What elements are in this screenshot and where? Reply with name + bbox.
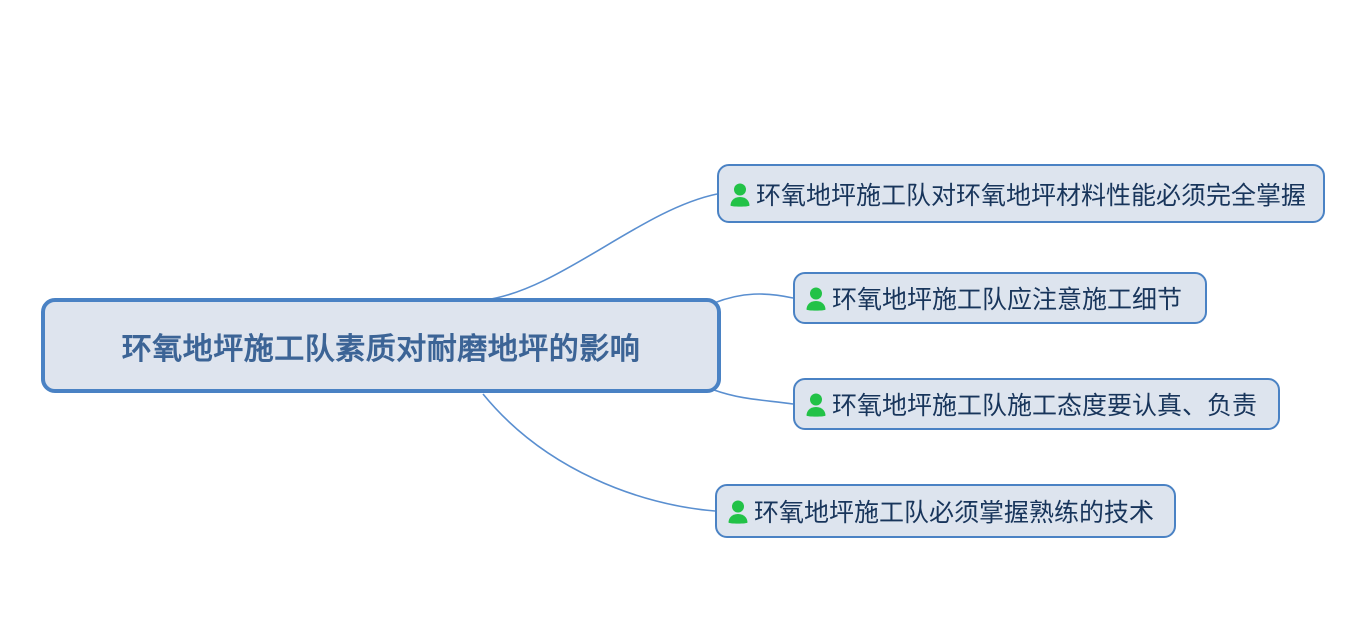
- person-icon: [805, 392, 827, 418]
- connector-root-to-branch-1: [485, 194, 717, 300]
- branch-node-2[interactable]: 环氧地坪施工队应注意施工细节: [793, 272, 1207, 324]
- branch-node-1[interactable]: 环氧地坪施工队对环氧地坪材料性能必须完全掌握: [717, 164, 1325, 223]
- root-node[interactable]: 环氧地坪施工队素质对耐磨地坪的影响: [41, 298, 721, 393]
- branch-node-4-label: 环氧地坪施工队必须掌握熟练的技术: [754, 493, 1154, 529]
- connector-root-to-branch-4: [483, 394, 715, 511]
- connector-root-to-branch-3: [714, 390, 793, 404]
- connector-root-to-branch-2: [714, 294, 793, 303]
- root-node-label: 环氧地坪施工队素质对耐磨地坪的影响: [122, 324, 641, 368]
- branch-node-3-label: 环氧地坪施工队施工态度要认真、负责: [832, 386, 1257, 422]
- branch-node-3[interactable]: 环氧地坪施工队施工态度要认真、负责: [793, 378, 1280, 430]
- person-icon: [729, 182, 751, 208]
- branch-node-1-label: 环氧地坪施工队对环氧地坪材料性能必须完全掌握: [756, 176, 1306, 212]
- branch-node-2-label: 环氧地坪施工队应注意施工细节: [832, 280, 1182, 316]
- branch-node-4[interactable]: 环氧地坪施工队必须掌握熟练的技术: [715, 484, 1176, 538]
- mindmap-canvas: 环氧地坪施工队素质对耐磨地坪的影响 环氧地坪施工队对环氧地坪材料性能必须完全掌握…: [0, 0, 1367, 641]
- person-icon: [727, 499, 749, 525]
- person-icon: [805, 286, 827, 312]
